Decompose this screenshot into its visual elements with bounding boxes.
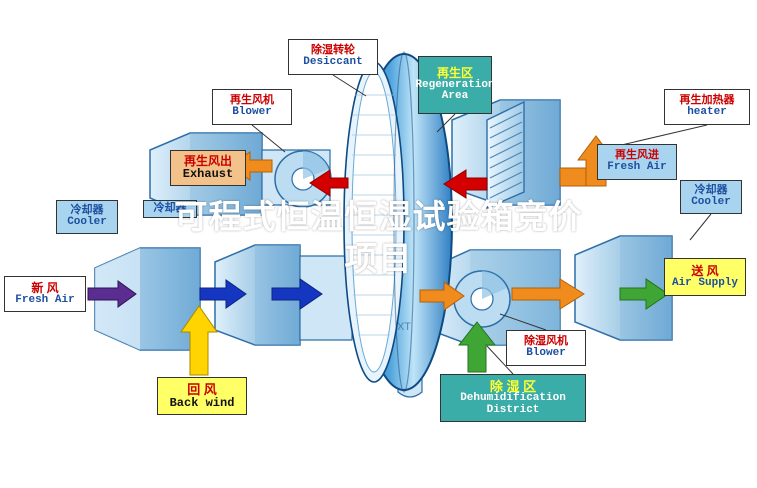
label-back-wind-en: Back wind <box>170 397 235 410</box>
label-regeneration-cn: 再生区 <box>437 67 473 80</box>
label-desiccant-en: Desiccant <box>303 57 362 69</box>
label-fresh-air-in: 新 风 Fresh Air <box>4 276 86 312</box>
label-exhaust: 再生风出 Exhaust <box>170 150 246 186</box>
overlay-line-1: 可程式恒温恒湿试验箱竞价 <box>0 196 757 238</box>
label-fresh-air-in-cn: 新 风 <box>31 282 58 295</box>
label-fresh-air-regen-en: Fresh Air <box>607 162 666 174</box>
label-fresh-air-regen: 再生风进 Fresh Air <box>597 144 677 180</box>
svg-text:XT: XT <box>397 321 411 333</box>
label-dehum-district-cn: 除 湿 区 <box>490 380 536 394</box>
label-heater: 再生加热器 heater <box>664 89 750 125</box>
label-regeneration-en: Regeneration Area <box>415 80 494 103</box>
label-exhaust-en: Exhaust <box>183 168 233 181</box>
label-dehum-district-en: Dehumidification District <box>441 393 585 416</box>
label-desiccant: 除湿转轮 Desiccant <box>288 39 378 75</box>
overlay-watermark: 可程式恒温恒湿试验箱竞价 项目 <box>0 196 757 280</box>
label-regeneration-area: 再生区 Regeneration Area <box>418 56 492 114</box>
heater-coil <box>487 102 524 208</box>
label-dehumidification-blower: 除湿风机 Blower <box>506 330 586 366</box>
label-back-wind: 回 风 Back wind <box>157 377 247 415</box>
label-back-wind-cn: 回 风 <box>187 383 217 397</box>
label-dehum-blower-en: Blower <box>526 348 566 360</box>
label-heater-en: heater <box>687 107 727 119</box>
diagram-canvas: XT <box>0 0 757 488</box>
label-regeneration-blower: 再生风机 Blower <box>212 89 292 125</box>
label-fresh-air-in-en: Fresh Air <box>15 295 74 307</box>
label-dehumidification-district: 除 湿 区 Dehumidification District <box>440 374 586 422</box>
label-regen-blower-en: Blower <box>232 107 272 119</box>
overlay-line-2: 项目 <box>0 238 757 280</box>
